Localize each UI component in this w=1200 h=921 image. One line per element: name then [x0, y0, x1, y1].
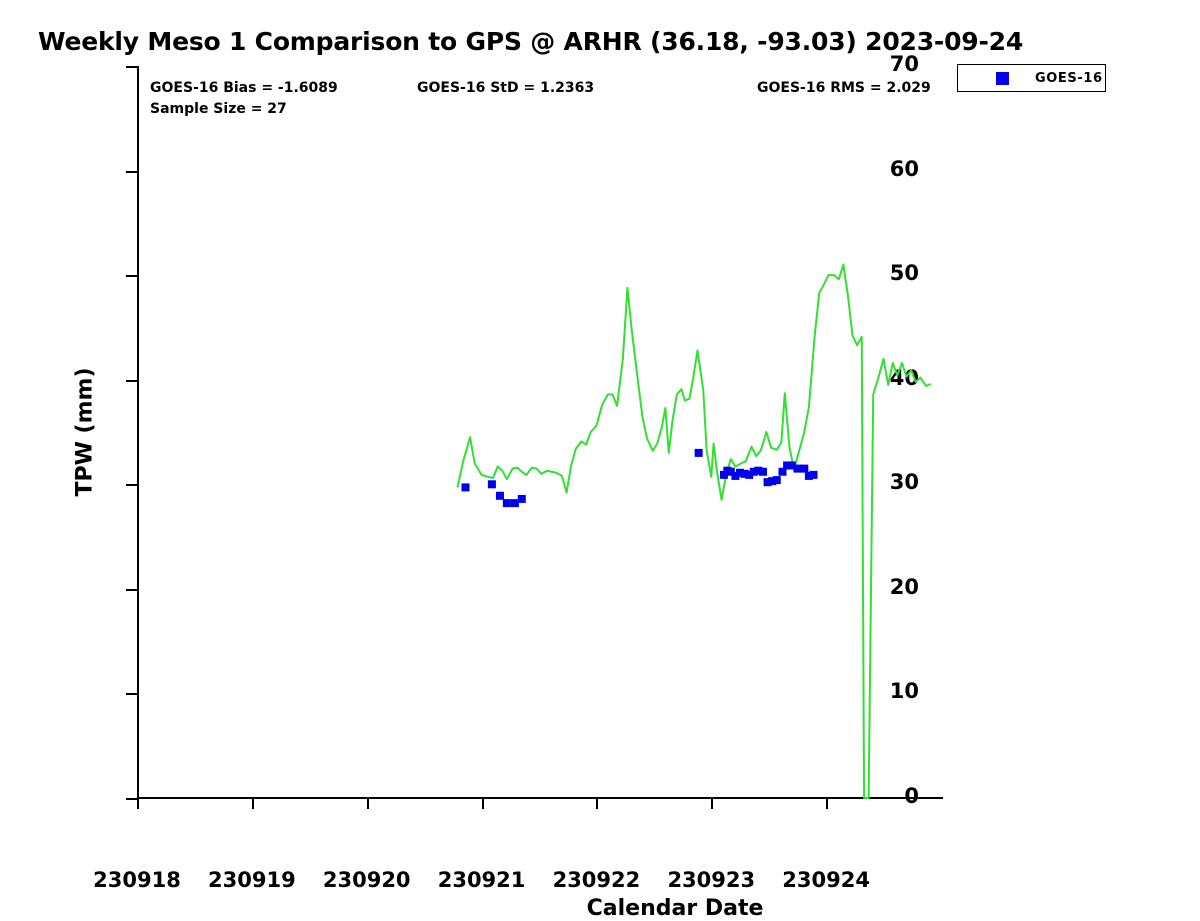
data-point-goes16 — [773, 476, 781, 484]
chart-canvas — [0, 0, 1200, 900]
gps-line-path — [457, 265, 930, 798]
data-point-goes16 — [511, 499, 519, 507]
series-gps-line — [457, 265, 930, 798]
data-point-goes16 — [496, 492, 504, 500]
data-point-goes16 — [793, 465, 801, 473]
data-point-goes16 — [488, 480, 496, 488]
data-point-goes16 — [503, 499, 511, 507]
data-point-goes16 — [800, 465, 808, 473]
chart-page: Weekly Meso 1 Comparison to GPS @ ARHR (… — [0, 0, 1200, 900]
data-point-goes16 — [461, 483, 469, 491]
data-point-goes16 — [810, 471, 818, 479]
data-point-goes16 — [695, 449, 703, 457]
data-point-goes16 — [518, 495, 526, 503]
data-point-goes16 — [759, 468, 767, 476]
series-goes16-markers — [461, 449, 817, 507]
